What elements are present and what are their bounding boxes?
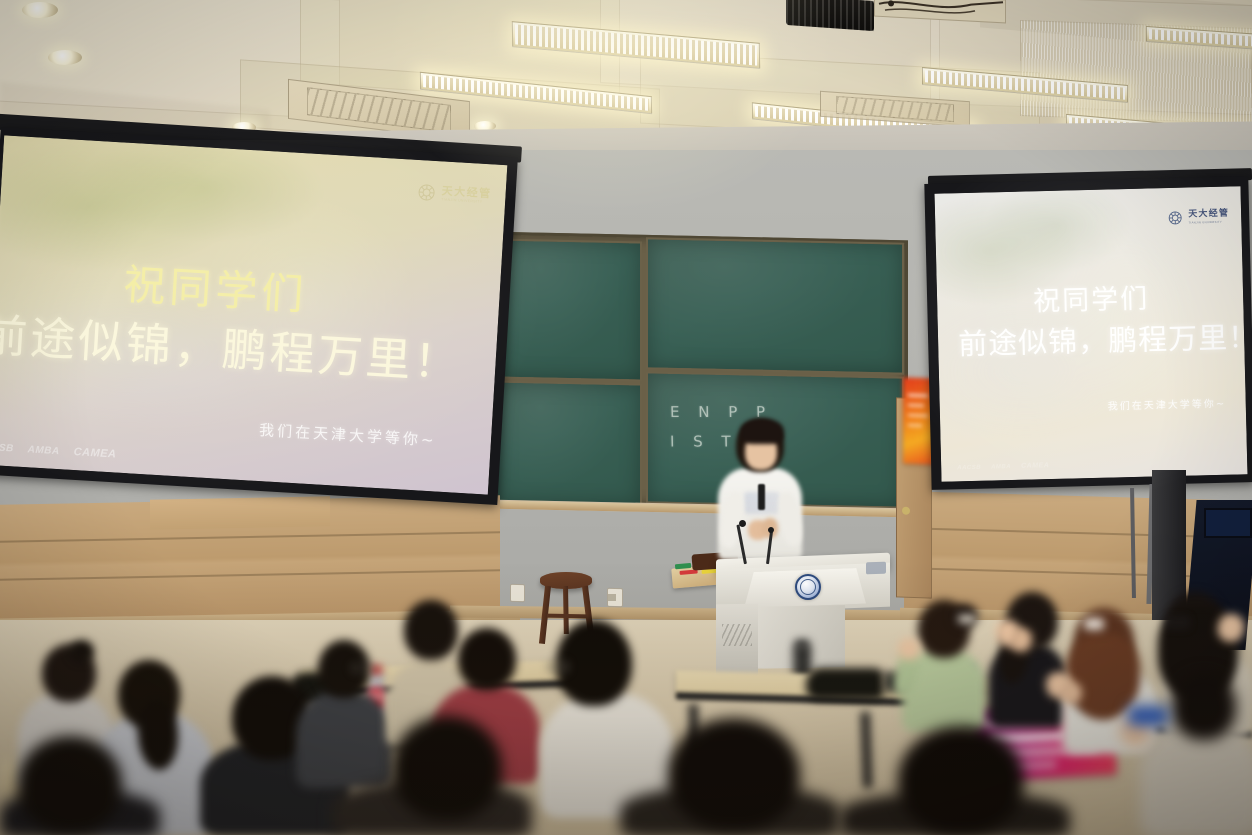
audience-head — [18, 736, 122, 832]
lecture-hall-photo: E N P P I S T — [0, 0, 1252, 835]
stool-stretcher — [547, 614, 587, 619]
handheld-microphone[interactable] — [758, 484, 765, 510]
chalk-text: I S T — [670, 433, 738, 451]
audience-head — [898, 726, 1024, 834]
audience-head — [392, 716, 502, 820]
wall-socket[interactable] — [510, 584, 525, 602]
marker-green[interactable] — [675, 563, 691, 569]
university-emblem — [795, 574, 821, 600]
microphone-head-icon — [768, 527, 774, 533]
clapping-hand — [1060, 682, 1082, 704]
corner-monitor — [1204, 508, 1252, 538]
wood-wall-left — [150, 496, 330, 529]
hair-bun — [70, 640, 94, 662]
tianda-emblem-icon — [1167, 210, 1183, 226]
phone-in-hand[interactable] — [1128, 706, 1168, 726]
socket-slot — [608, 594, 616, 601]
accreditation-camea: CAMEA — [73, 446, 116, 461]
eyeglasses — [352, 664, 374, 672]
accreditation-amba: AMBA — [991, 463, 1011, 469]
recessed-downlight — [22, 2, 58, 18]
eyeglasses — [1166, 618, 1188, 627]
audience-head — [404, 600, 458, 660]
blackboard-panel — [496, 238, 642, 381]
speaker-hair-top — [740, 418, 784, 444]
blackboard-panel — [646, 237, 904, 374]
audience-head — [1172, 672, 1236, 740]
audience-head — [458, 628, 516, 690]
slide-headline-1: 祝同学们 — [1033, 277, 1150, 319]
tianda-emblem-icon — [416, 182, 437, 203]
slide-brand-logo: 天大经管 TIANJIN UNIVERSITY — [1167, 209, 1229, 227]
slide-headline-2: 前途似锦，鹏程万里！ — [958, 314, 1248, 363]
backpack-on-desk[interactable] — [806, 668, 884, 700]
microphone-head-icon — [739, 520, 746, 527]
logo-chinese-text: 天大经管 — [1188, 210, 1229, 220]
blackboard-panel — [496, 380, 642, 507]
clapping-hand — [898, 638, 920, 660]
hair-clip — [958, 615, 976, 623]
accreditation-aacsb: AACSB — [0, 441, 14, 454]
accreditation-aacsb: AACSB — [957, 464, 981, 471]
bottle-cap — [795, 640, 809, 648]
podium-control-panel[interactable] — [866, 562, 886, 575]
audience-head — [668, 718, 800, 830]
podium-vent — [722, 624, 752, 646]
stool-leg — [563, 586, 569, 634]
door-knob-icon[interactable] — [902, 507, 910, 515]
eyeglasses — [548, 662, 568, 672]
hair-clip — [1084, 618, 1104, 630]
right-projection-screen: 天大经管 TIANJIN UNIVERSITY 祝同学们 前途似锦，鹏程万里！ … — [935, 186, 1248, 481]
recessed-downlight — [48, 50, 82, 65]
accreditation-amba: AMBA — [27, 444, 60, 457]
left-projection-screen: 天大经管 TIANJIN UNIVERSITY 祝同学们 前途似锦，鹏程万里！ … — [0, 135, 507, 494]
logo-english-text: TIANJIN UNIVERSITY — [1188, 221, 1229, 225]
slide-subtitle: 我们在天津大学等你~ — [1108, 395, 1227, 413]
accreditation-camea: CAMEA — [1021, 462, 1049, 470]
audience-body — [296, 690, 392, 788]
